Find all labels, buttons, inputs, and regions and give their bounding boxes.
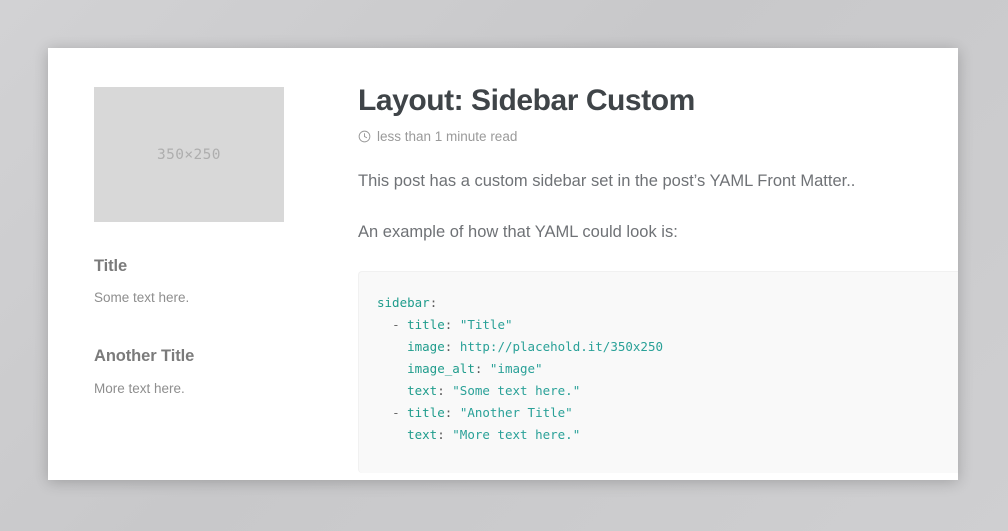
clock-icon	[358, 130, 371, 143]
code-token	[377, 427, 407, 442]
sidebar-block: Another Title More text here.	[94, 347, 312, 396]
post-layout: 350×250 Title Some text here. Another Ti…	[48, 48, 958, 480]
code-block-content: sidebar: - title: "Title" image: http://…	[377, 292, 958, 446]
post-meta: less than 1 minute read	[358, 129, 958, 144]
code-token: :	[430, 295, 438, 310]
sidebar-block-title: Another Title	[94, 347, 312, 366]
code-token: text	[407, 427, 437, 442]
code-token: sidebar	[377, 295, 430, 310]
code-token	[482, 361, 490, 376]
post-content: Layout: Sidebar Custom less than 1 minut…	[312, 48, 958, 473]
page-title: Layout: Sidebar Custom	[358, 84, 958, 118]
sidebar-block-text: Some text here.	[94, 290, 312, 305]
code-token	[377, 339, 407, 354]
code-token	[400, 317, 408, 332]
code-token: "Another Title"	[460, 405, 573, 420]
code-token: "image"	[490, 361, 543, 376]
post-card: 350×250 Title Some text here. Another Ti…	[48, 48, 958, 480]
code-token: "Some text here."	[452, 383, 580, 398]
code-token: image	[407, 339, 445, 354]
code-token: image_alt	[407, 361, 475, 376]
code-token	[377, 405, 392, 420]
code-token	[400, 405, 408, 420]
code-token	[377, 383, 407, 398]
code-token	[452, 405, 460, 420]
code-block: sidebar: - title: "Title" image: http://…	[358, 271, 958, 473]
sidebar-block-text: More text here.	[94, 381, 312, 396]
sidebar-placeholder-image-label: 350×250	[157, 147, 221, 163]
code-token: http://placehold.it/350x250	[460, 339, 663, 354]
sidebar-block-title: Title	[94, 257, 312, 276]
code-token: :	[437, 383, 445, 398]
code-token	[452, 317, 460, 332]
code-token: title	[407, 405, 445, 420]
post-paragraph: This post has a custom sidebar set in th…	[358, 170, 958, 194]
code-token: title	[407, 317, 445, 332]
custom-sidebar: 350×250 Title Some text here. Another Ti…	[48, 48, 312, 396]
code-token: text	[407, 383, 437, 398]
code-token: -	[392, 317, 400, 332]
code-token	[377, 317, 392, 332]
code-token	[452, 339, 460, 354]
sidebar-block: Title Some text here.	[94, 257, 312, 305]
code-token: "More text here."	[452, 427, 580, 442]
code-token: -	[392, 405, 400, 420]
code-token: "Title"	[460, 317, 513, 332]
code-token	[377, 361, 407, 376]
read-time-label: less than 1 minute read	[377, 129, 517, 144]
code-token: :	[437, 427, 445, 442]
post-paragraph: An example of how that YAML could look i…	[358, 221, 958, 245]
sidebar-placeholder-image: 350×250	[94, 87, 284, 222]
